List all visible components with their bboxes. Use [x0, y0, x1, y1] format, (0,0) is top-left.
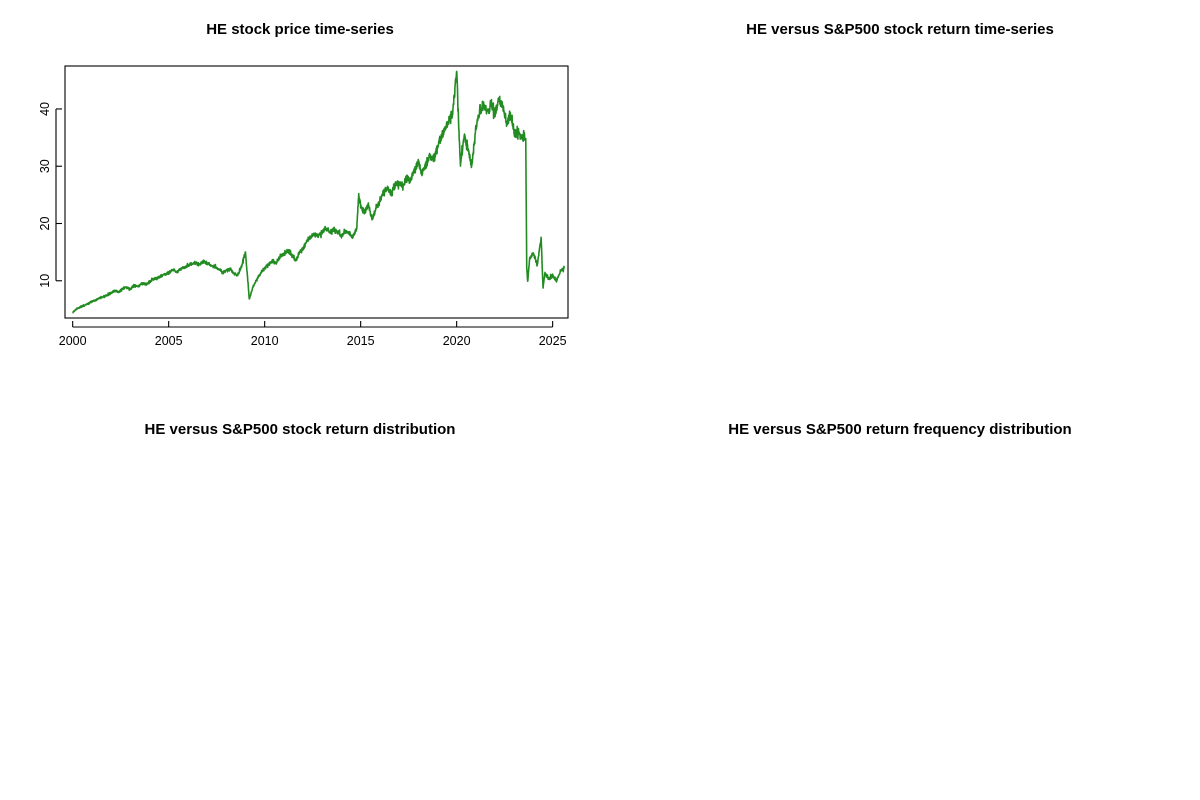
- return-frequency-svg: HE versus S&P500 return frequency distri…: [600, 400, 1200, 800]
- panel-price-series: HE stock price time-series 1020304020002…: [0, 0, 600, 400]
- x-tick-label: 2010: [251, 334, 279, 348]
- panel-background: [0, 0, 600, 400]
- price-series-svg: HE stock price time-series 1020304020002…: [0, 0, 600, 400]
- y-tick-label: 30: [38, 159, 52, 173]
- panel-background: [600, 400, 1200, 800]
- panel-background: [0, 400, 600, 800]
- panel-title: HE versus S&P500 return frequency distri…: [728, 421, 1071, 438]
- y-tick-label: 10: [38, 274, 52, 288]
- panel-return-frequency: HE versus S&P500 return frequency distri…: [600, 400, 1200, 800]
- panel-background: [600, 0, 1200, 400]
- x-tick-label: 2015: [347, 334, 375, 348]
- panel-title: HE versus S&P500 stock return time-serie…: [746, 21, 1054, 38]
- x-tick-label: 2000: [59, 334, 87, 348]
- plot-grid: HE stock price time-series 1020304020002…: [0, 0, 1200, 800]
- x-tick-label: 2005: [155, 334, 183, 348]
- y-tick-label: 40: [38, 102, 52, 116]
- y-tick-label: 20: [38, 217, 52, 231]
- panel-title: HE stock price time-series: [206, 21, 394, 38]
- return-series-svg: HE versus S&P500 stock return time-serie…: [600, 0, 1200, 400]
- panel-return-distribution: HE versus S&P500 stock return distributi…: [0, 400, 600, 800]
- x-tick-label: 2025: [539, 334, 567, 348]
- panel-title: HE versus S&P500 stock return distributi…: [145, 421, 456, 438]
- panel-return-series: HE versus S&P500 stock return time-serie…: [600, 0, 1200, 400]
- return-distribution-svg: HE versus S&P500 stock return distributi…: [0, 400, 600, 800]
- x-tick-label: 2020: [443, 334, 471, 348]
